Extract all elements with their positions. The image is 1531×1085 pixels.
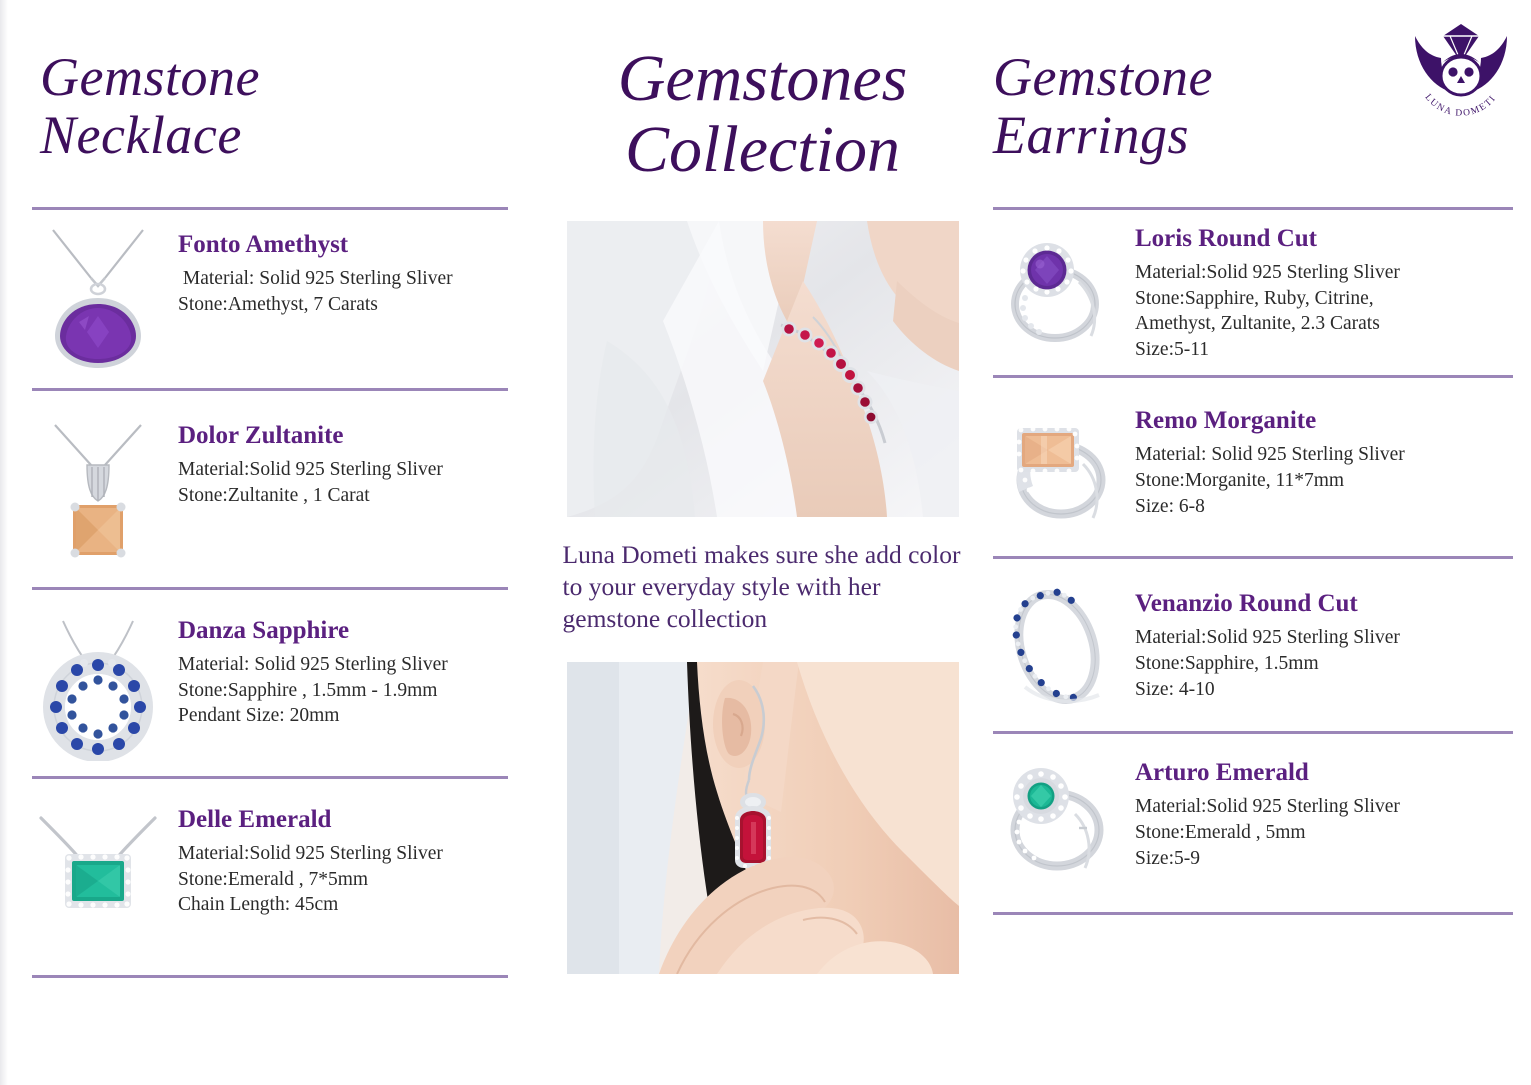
necklace-title-line-2: Necklace bbox=[40, 106, 508, 164]
product-thumbnail-amethyst-ring bbox=[993, 224, 1121, 352]
product-spec-line: Stone:Sapphire, Ruby, Citrine, bbox=[1135, 286, 1513, 312]
product-name: Loris Round Cut bbox=[1135, 224, 1513, 254]
divider bbox=[32, 207, 508, 210]
product-spec-line: Material: Solid 925 Sterling Sliver bbox=[1135, 442, 1513, 468]
divider bbox=[993, 556, 1513, 559]
product-spec-line: Material:Solid 925 Sterling Sliver bbox=[1135, 794, 1513, 820]
product-name: Venanzio Round Cut bbox=[1135, 589, 1513, 619]
catalog-page: Gemstone Necklace bbox=[0, 0, 1531, 1085]
collection-title-line-1: Gemstones bbox=[550, 44, 975, 115]
divider bbox=[32, 776, 508, 779]
product-spec-line: Material: Solid 925 Sterling Sliver bbox=[178, 652, 508, 678]
product-thumbnail-emerald-pendant bbox=[32, 799, 164, 949]
product-spec-line: Stone:Morganite, 11*7mm bbox=[1135, 468, 1513, 494]
product-row[interactable]: Loris Round Cut Material:Solid 925 Sterl… bbox=[985, 224, 1513, 379]
product-spec-line: Size: 4-10 bbox=[1135, 677, 1513, 703]
product-name: Danza Sapphire bbox=[178, 616, 508, 646]
divider bbox=[32, 587, 508, 590]
product-spec-line: Stone:Emerald , 7*5mm bbox=[178, 867, 508, 893]
product-spec-line: Pendant Size: 20mm bbox=[178, 703, 508, 729]
product-row[interactable]: Venanzio Round Cut Material:Solid 925 St… bbox=[985, 579, 1513, 734]
product-spec-line: Material:Solid 925 Sterling Sliver bbox=[1135, 260, 1513, 286]
divider bbox=[993, 731, 1513, 734]
product-thumbnail-sapphire-band-ring bbox=[993, 579, 1121, 715]
necklace-column: Gemstone Necklace bbox=[0, 0, 540, 1085]
product-thumbnail-morganite-ring bbox=[993, 402, 1121, 534]
hero-photo-earring bbox=[567, 662, 959, 974]
product-row[interactable]: Dolor Zultanite Material:Solid 925 Sterl… bbox=[32, 415, 508, 590]
product-name: Delle Emerald bbox=[178, 805, 508, 835]
divider bbox=[993, 207, 1513, 210]
product-spec-line: Stone:Sapphire, 1.5mm bbox=[1135, 651, 1513, 677]
product-spec-line: Amethyst, Zultanite, 2.3 Carats bbox=[1135, 311, 1513, 337]
collection-title: Gemstones Collection bbox=[540, 44, 985, 185]
hero-photo-bracelet bbox=[567, 221, 959, 517]
product-spec-line: Stone:Amethyst, 7 Carats bbox=[178, 292, 508, 318]
divider bbox=[993, 375, 1513, 378]
necklace-title-line-1: Gemstone bbox=[40, 48, 508, 106]
divider bbox=[32, 975, 508, 978]
luna-dometi-logo: LUNA DOMETI bbox=[1407, 8, 1515, 120]
product-spec-line: Stone:Emerald , 5mm bbox=[1135, 820, 1513, 846]
product-row[interactable]: Danza Sapphire Material: Solid 925 Sterl… bbox=[32, 610, 508, 779]
product-spec-line: Size:5-11 bbox=[1135, 337, 1513, 363]
product-thumbnail-sapphire-circle-pendant bbox=[32, 610, 164, 760]
product-spec-line: Size: 6-8 bbox=[1135, 494, 1513, 520]
product-row[interactable]: Delle Emerald Material:Solid 925 Sterlin… bbox=[32, 799, 508, 978]
center-column: Gemstones Collection bbox=[540, 0, 985, 1085]
product-thumbnail-amethyst-pendant bbox=[32, 224, 164, 374]
product-name: Dolor Zultanite bbox=[178, 421, 508, 451]
product-name: Fonto Amethyst bbox=[178, 230, 508, 260]
product-row[interactable]: Fonto Amethyst Material: Solid 925 Sterl… bbox=[32, 224, 508, 391]
earrings-column: LUNA DOMETI Gemstone Earrings bbox=[985, 0, 1531, 1085]
collection-tagline: Luna Dometi makes sure she add color to … bbox=[563, 539, 963, 635]
product-spec-line: Stone:Zultanite , 1 Carat bbox=[178, 483, 508, 509]
product-row[interactable]: Arturo Emerald Material:Solid 925 Sterli… bbox=[985, 754, 1513, 915]
product-spec-line: Material:Solid 925 Sterling Sliver bbox=[178, 457, 508, 483]
product-name: Remo Morganite bbox=[1135, 406, 1513, 436]
necklace-section-title: Gemstone Necklace bbox=[40, 48, 508, 165]
product-spec-line: Stone:Sapphire , 1.5mm - 1.9mm bbox=[178, 678, 508, 704]
product-spec-line: Material:Solid 925 Sterling Sliver bbox=[1135, 625, 1513, 651]
divider bbox=[993, 912, 1513, 915]
product-spec-line: Chain Length: 45cm bbox=[178, 892, 508, 918]
product-spec-line: Material: Solid 925 Sterling Sliver bbox=[178, 266, 508, 292]
product-name: Arturo Emerald bbox=[1135, 758, 1513, 788]
product-spec-line: Size:5-9 bbox=[1135, 846, 1513, 872]
product-thumbnail-emerald-ring bbox=[993, 754, 1121, 886]
divider bbox=[32, 388, 508, 391]
product-thumbnail-zultanite-pendant bbox=[32, 415, 164, 565]
collection-title-line-2: Collection bbox=[550, 115, 975, 186]
product-row[interactable]: Remo Morganite Material: Solid 925 Sterl… bbox=[985, 402, 1513, 559]
product-spec-line: Material:Solid 925 Sterling Sliver bbox=[178, 841, 508, 867]
